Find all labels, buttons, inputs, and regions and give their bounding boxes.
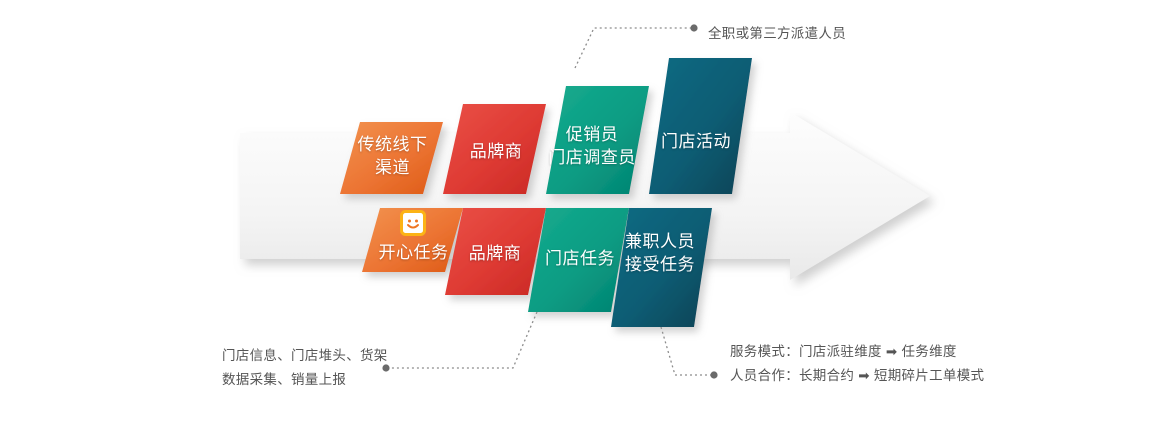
annotation-top-right: 全职或第三方派遣人员 xyxy=(708,22,846,46)
connector-bottom-left xyxy=(388,312,537,368)
annotation-bottom-left: 门店信息、门店堆头、货架 数据采集、销量上报 xyxy=(222,344,388,392)
connector-dot-top-right xyxy=(690,24,697,31)
connector-dot-bottom-right xyxy=(710,371,717,378)
annotation-bottom-right: 服务模式：门店派驻维度 ➡ 任务维度 人员合作：长期合约 ➡ 短期碎片工单模式 xyxy=(730,340,984,388)
connector-bottom-right xyxy=(661,327,712,375)
smiley-icon xyxy=(400,210,426,236)
diagram-canvas: 传统线下 渠道 品牌商 促销员 门店调查员 门店活动 开心任务 品牌商 门店任务… xyxy=(0,0,1150,430)
